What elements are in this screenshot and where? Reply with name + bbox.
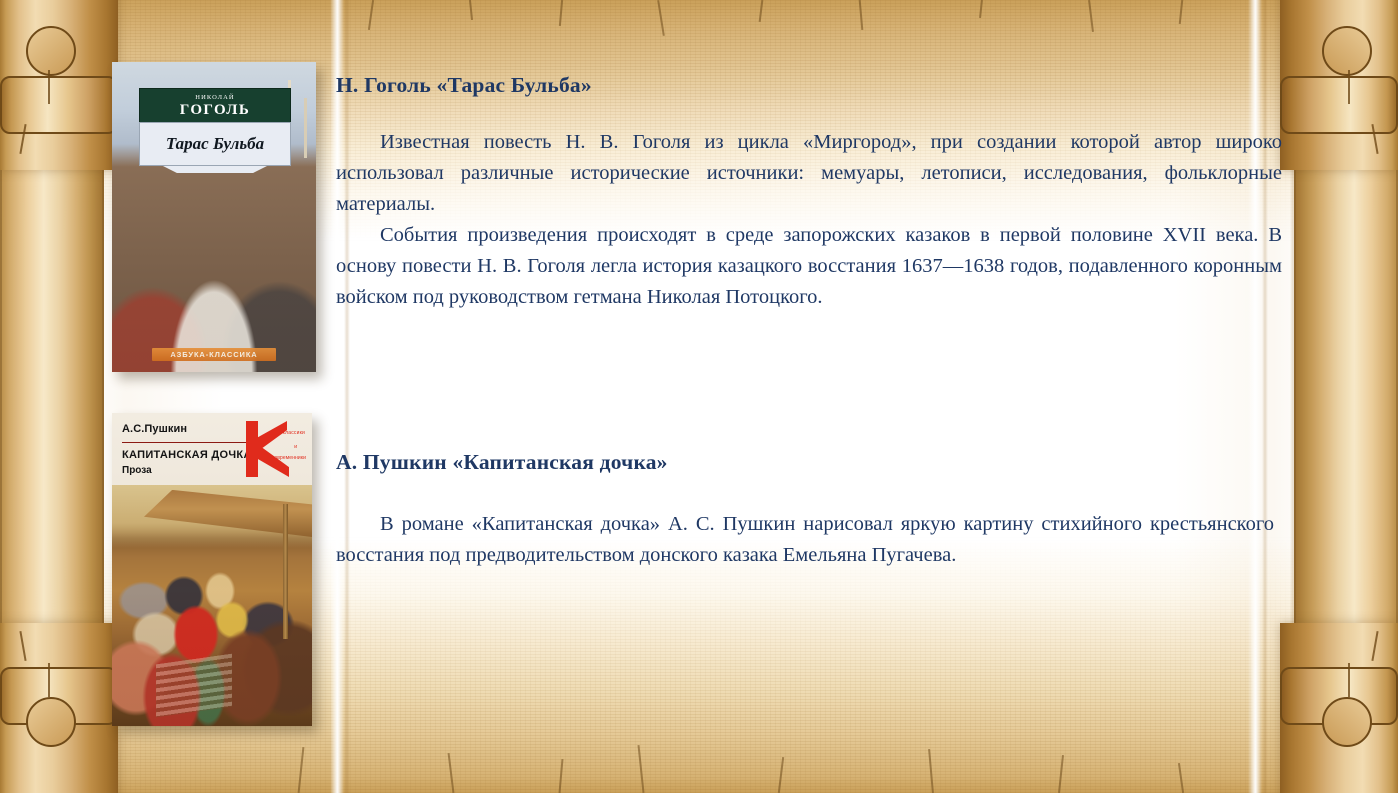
cover-title: Тарас Бульба [166,134,264,154]
cover-subtitle: Проза [122,465,152,476]
cover-divider [122,442,247,443]
logo-line-3: современники [272,455,306,461]
paragraph: События произведения происходят в среде … [336,220,1282,313]
paragraph: Известная повесть Н. В. Гоголя из цикла … [336,127,1282,220]
cover-author-name: А.С.Пушкин [122,423,187,435]
cover-steps [156,653,232,717]
entry-body-gogol: Известная повесть Н. В. Гоголя из цикла … [336,127,1282,313]
cover-artwork-foreground [112,155,316,372]
cover-spear-icon [304,98,307,158]
logo-line-2: и [294,444,297,450]
cover-title-box: Тарас Бульба [139,122,291,166]
publisher-logo-icon: классики и современники [244,417,306,481]
cover-author-name: ГОГОЛЬ [180,102,250,119]
slide-content: НИКОЛАЙ ГОГОЛЬ Тарас Бульба АЗБУКА-КЛАСС… [0,0,1398,793]
cover-post [283,504,288,639]
book-cover-taras-bulba: НИКОЛАЙ ГОГОЛЬ Тарас Бульба АЗБУКА-КЛАСС… [112,62,316,372]
entry-body-pushkin: В романе «Капитанская дочка» А. С. Пушки… [336,509,1274,571]
book-cover-kapitanskaya-dochka: А.С.Пушкин КАПИТАНСКАЯ ДОЧКА Проза класс… [112,413,312,726]
entry-heading-gogol: Н. Гоголь «Тарас Бульба» [336,73,592,98]
cover-artwork-pugachev [112,485,312,726]
cover-series-top: НИКОЛАЙ [195,94,234,102]
cover-title: КАПИТАНСКАЯ ДОЧКА [122,449,252,461]
paragraph: В романе «Капитанская дочка» А. С. Пушки… [336,509,1274,571]
logo-line-1: классики [283,430,305,436]
cover-footer-label: АЗБУКА-КЛАССИКА [170,350,257,359]
cover-author-banner: НИКОЛАЙ ГОГОЛЬ [139,88,291,124]
cover-series-footer: АЗБУКА-КЛАССИКА [152,348,276,361]
entry-heading-pushkin: А. Пушкин «Капитанская дочка» [336,450,668,475]
slide: НИКОЛАЙ ГОГОЛЬ Тарас Бульба АЗБУКА-КЛАСС… [0,0,1398,793]
